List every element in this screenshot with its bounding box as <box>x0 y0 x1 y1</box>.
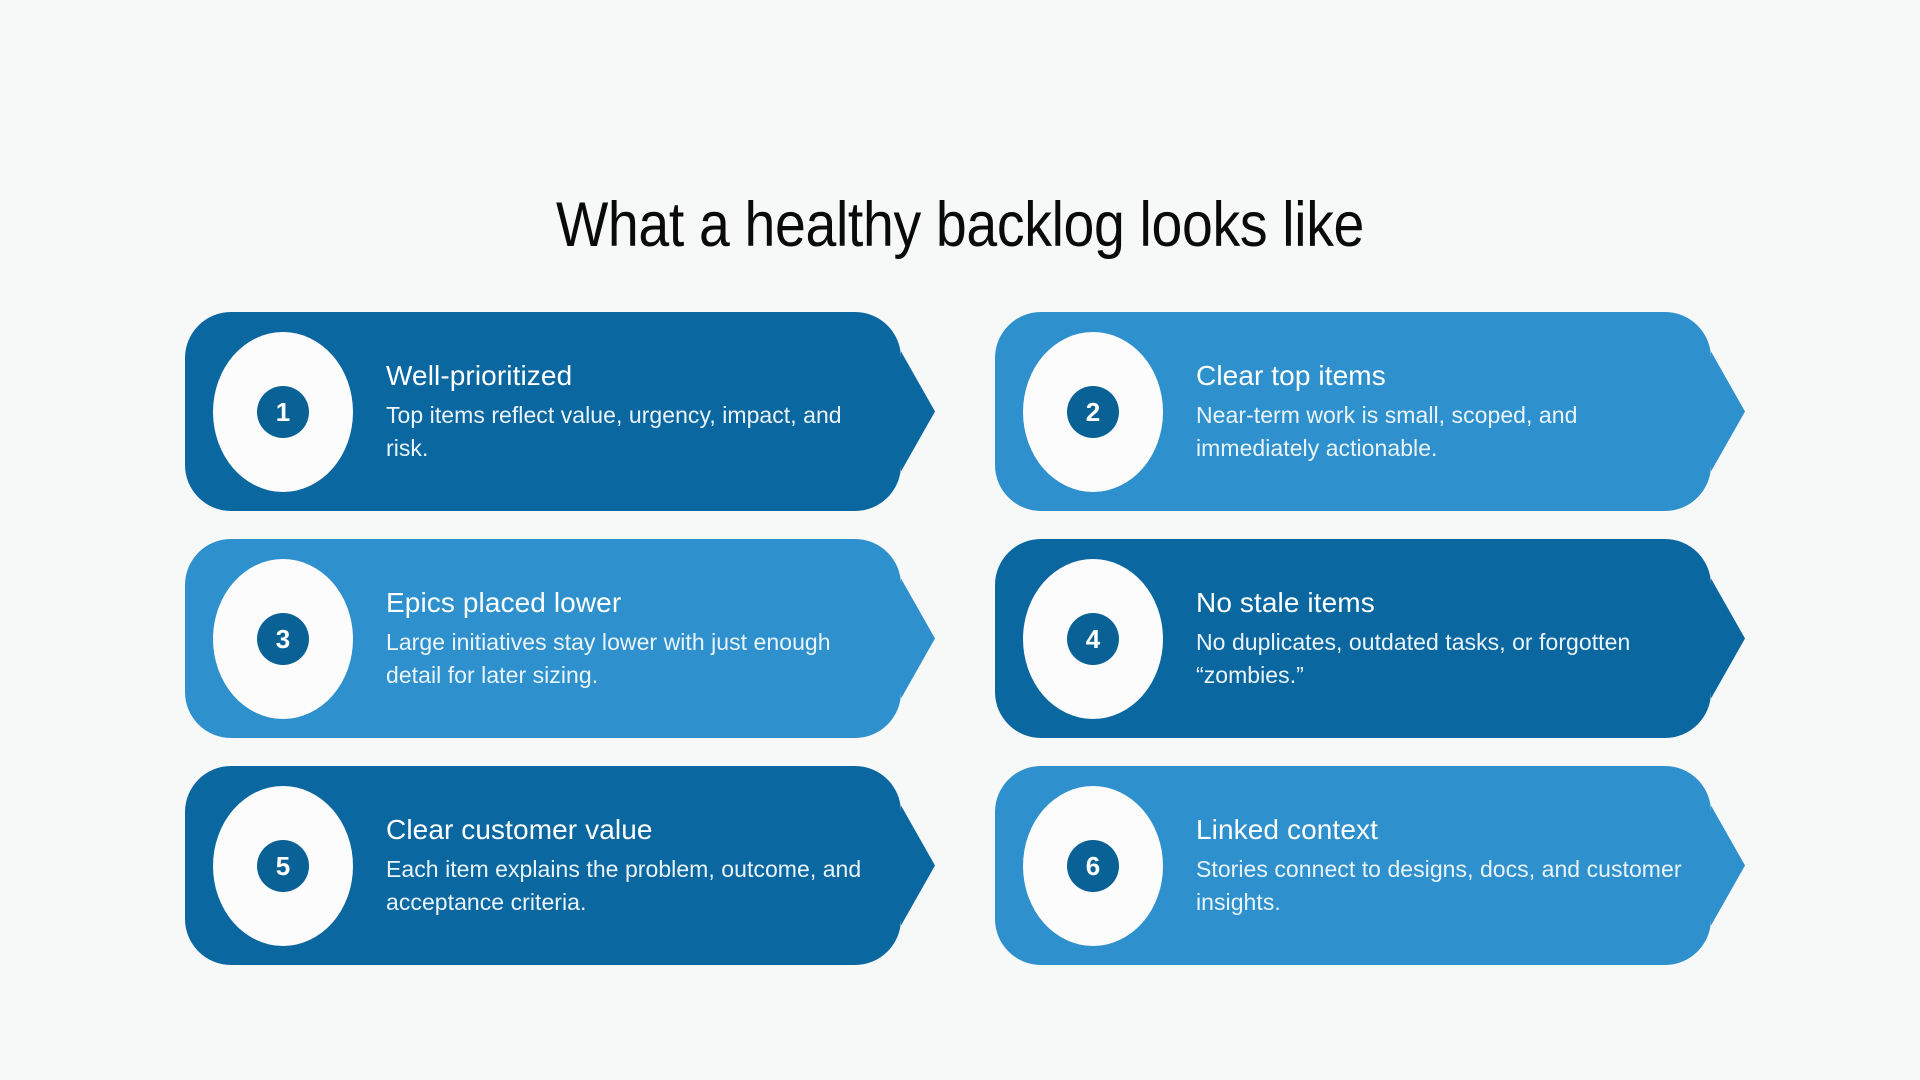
card-inner: 1Well-prioritizedTop items reflect value… <box>185 312 935 511</box>
card-inner: 3Epics placed lowerLarge initiatives sta… <box>185 539 935 738</box>
card-inner: 4No stale itemsNo duplicates, outdated t… <box>995 539 1745 738</box>
card-heading: No stale items <box>1196 586 1699 620</box>
step-number-badge: 6 <box>1067 840 1119 892</box>
number-disc: 1 <box>213 332 353 492</box>
card-heading: Well-prioritized <box>386 359 889 393</box>
step-number-badge: 4 <box>1067 613 1119 665</box>
card-heading: Clear customer value <box>386 813 889 847</box>
card-heading: Clear top items <box>1196 359 1699 393</box>
card-text-block: Clear customer valueEach item explains t… <box>353 813 935 919</box>
card-inner: 6Linked contextStories connect to design… <box>995 766 1745 965</box>
card-description: No duplicates, outdated tasks, or forgot… <box>1196 626 1699 691</box>
card-inner: 5Clear customer valueEach item explains … <box>185 766 935 965</box>
infographic-slide: What a healthy backlog looks like 1Well-… <box>0 0 1920 1080</box>
feature-card[interactable]: 3Epics placed lowerLarge initiatives sta… <box>185 539 935 738</box>
card-heading: Epics placed lower <box>386 586 889 620</box>
card-description: Large initiatives stay lower with just e… <box>386 626 889 691</box>
card-text-block: No stale itemsNo duplicates, outdated ta… <box>1163 586 1745 692</box>
feature-card[interactable]: 2Clear top itemsNear-term work is small,… <box>995 312 1745 511</box>
card-description: Each item explains the problem, outcome,… <box>386 853 889 918</box>
card-text-block: Well-prioritizedTop items reflect value,… <box>353 359 935 465</box>
page-title: What a healthy backlog looks like <box>115 190 1805 261</box>
card-description: Stories connect to designs, docs, and cu… <box>1196 853 1699 918</box>
feature-card[interactable]: 4No stale itemsNo duplicates, outdated t… <box>995 539 1745 738</box>
number-disc: 2 <box>1023 332 1163 492</box>
step-number-badge: 1 <box>257 386 309 438</box>
card-heading: Linked context <box>1196 813 1699 847</box>
card-inner: 2Clear top itemsNear-term work is small,… <box>995 312 1745 511</box>
number-disc: 6 <box>1023 786 1163 946</box>
card-text-block: Linked contextStories connect to designs… <box>1163 813 1745 919</box>
card-description: Near-term work is small, scoped, and imm… <box>1196 399 1699 464</box>
number-disc: 5 <box>213 786 353 946</box>
feature-card[interactable]: 5Clear customer valueEach item explains … <box>185 766 935 965</box>
card-description: Top items reflect value, urgency, impact… <box>386 399 889 464</box>
number-disc: 4 <box>1023 559 1163 719</box>
step-number-badge: 3 <box>257 613 309 665</box>
feature-card[interactable]: 6Linked contextStories connect to design… <box>995 766 1745 965</box>
step-number-badge: 2 <box>1067 386 1119 438</box>
card-text-block: Epics placed lowerLarge initiatives stay… <box>353 586 935 692</box>
card-grid: 1Well-prioritizedTop items reflect value… <box>185 312 1745 965</box>
card-text-block: Clear top itemsNear-term work is small, … <box>1163 359 1745 465</box>
step-number-badge: 5 <box>257 840 309 892</box>
number-disc: 3 <box>213 559 353 719</box>
feature-card[interactable]: 1Well-prioritizedTop items reflect value… <box>185 312 935 511</box>
